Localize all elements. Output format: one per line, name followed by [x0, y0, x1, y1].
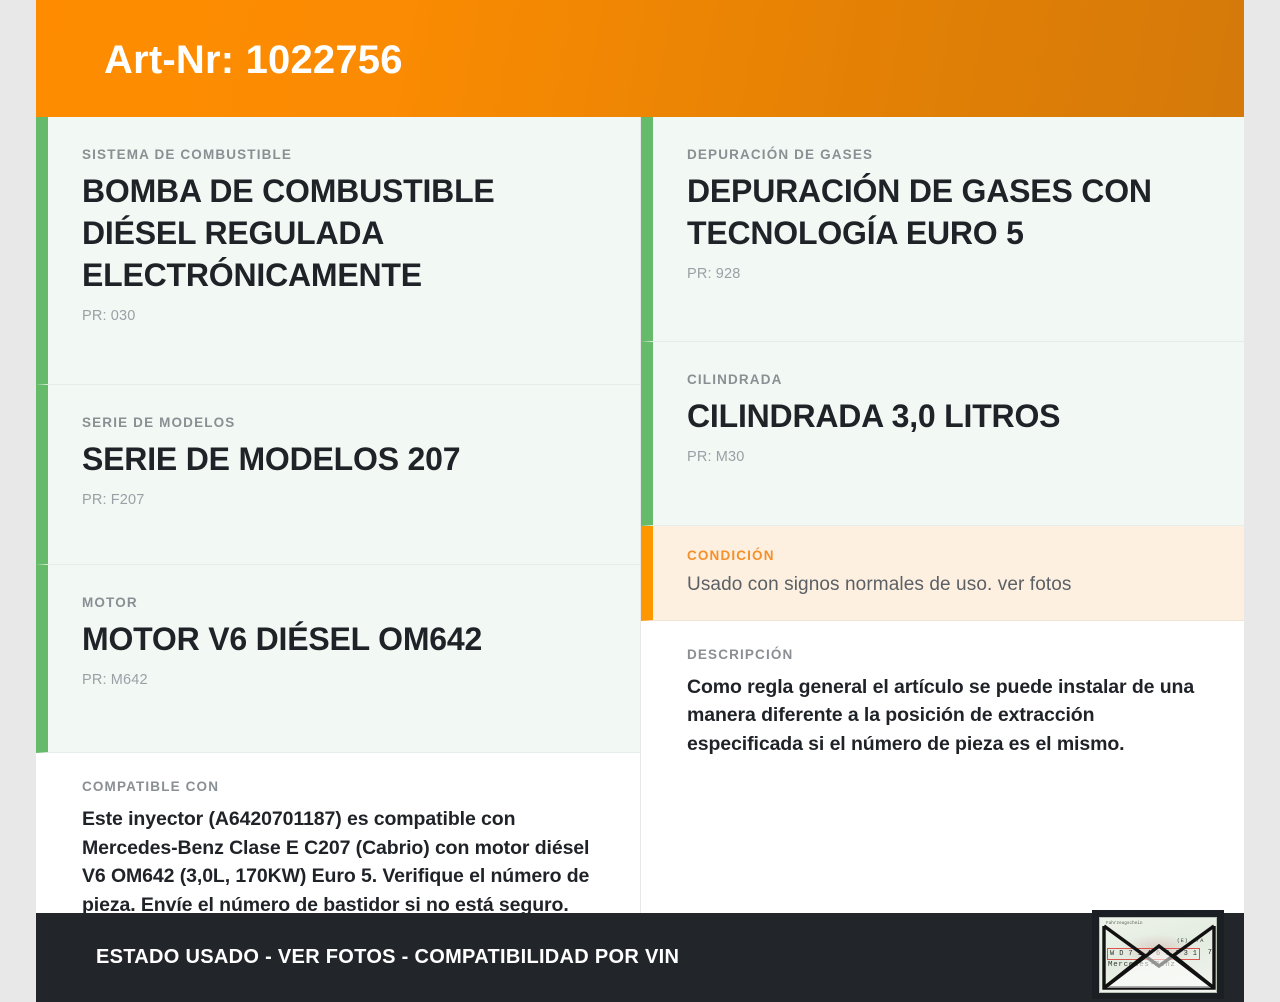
spec-label: CILINDRADA	[687, 372, 1214, 387]
footer-text: ESTADO USADO - VER FOTOS - COMPATIBILIDA…	[36, 946, 679, 969]
spec-title: CILINDRADA 3,0 LITROS	[687, 396, 1214, 438]
spec-pr-code: PR: M30	[687, 449, 1214, 465]
spec-label: SERIE DE MODELOS	[82, 415, 610, 430]
envelope-icon	[1100, 918, 1217, 993]
spec-card-displacement: CILINDRADA CILINDRADA 3,0 LITROS PR: M30	[641, 342, 1244, 526]
compatibility-text: Este inyector (A6420701187) es compatibl…	[82, 805, 610, 920]
spec-card-emissions: DEPURACIÓN DE GASES DEPURACIÓN DE GASES …	[641, 117, 1244, 342]
spec-pr-code: PR: 928	[687, 266, 1214, 282]
compatibility-label: COMPATIBLE CON	[82, 779, 610, 794]
description-label: DESCRIPCIÓN	[687, 647, 1214, 662]
spec-title: MOTOR V6 DIÉSEL OM642	[82, 619, 610, 661]
spec-label: DEPURACIÓN DE GASES	[687, 147, 1214, 162]
description-text: Como regla general el artículo se puede …	[687, 673, 1214, 759]
spec-title: SERIE DE MODELOS 207	[82, 439, 610, 481]
condition-value: Usado con signos normales de uso. ver fo…	[687, 572, 1214, 598]
page-footer: ESTADO USADO - VER FOTOS - COMPATIBILIDA…	[36, 913, 1244, 1002]
vin-badge: Fahrzeugschein (E) A/A W D 7 1 4 6 3 J 3…	[1092, 910, 1224, 999]
spec-pr-code: PR: M642	[82, 672, 610, 688]
spec-sheet: Art-Nr: 1022756 SISTEMA DE COMBUSTIBLE B…	[0, 0, 1280, 1002]
condition-label: CONDICIÓN	[687, 548, 1214, 563]
spec-card-fuel-system: SISTEMA DE COMBUSTIBLE BOMBA DE COMBUSTI…	[36, 117, 640, 385]
spec-card-description: DESCRIPCIÓN Como regla general el artícu…	[641, 621, 1244, 789]
spec-card-engine: MOTOR MOTOR V6 DIÉSEL OM642 PR: M642	[36, 565, 640, 753]
page-title: Art-Nr: 1022756	[36, 40, 403, 80]
spec-title: DEPURACIÓN DE GASES CON TECNOLOGÍA EURO …	[687, 171, 1214, 255]
spec-title: BOMBA DE COMBUSTIBLE DIÉSEL REGULADA ELE…	[82, 171, 610, 297]
spec-label: MOTOR	[82, 595, 610, 610]
left-column: SISTEMA DE COMBUSTIBLE BOMBA DE COMBUSTI…	[36, 117, 640, 913]
vehicle-registration-image: Fahrzeugschein (E) A/A W D 7 1 4 6 3 J 3…	[1099, 917, 1217, 993]
page-header: Art-Nr: 1022756	[36, 0, 1244, 117]
spec-body: SISTEMA DE COMBUSTIBLE BOMBA DE COMBUSTI…	[36, 117, 1244, 913]
right-column: DEPURACIÓN DE GASES DEPURACIÓN DE GASES …	[640, 117, 1244, 913]
spec-label: SISTEMA DE COMBUSTIBLE	[82, 147, 610, 162]
spec-card-model-series: SERIE DE MODELOS SERIE DE MODELOS 207 PR…	[36, 385, 640, 565]
spec-pr-code: PR: 030	[82, 308, 610, 324]
spec-pr-code: PR: F207	[82, 492, 610, 508]
spec-card-condition: CONDICIÓN Usado con signos normales de u…	[641, 526, 1244, 621]
